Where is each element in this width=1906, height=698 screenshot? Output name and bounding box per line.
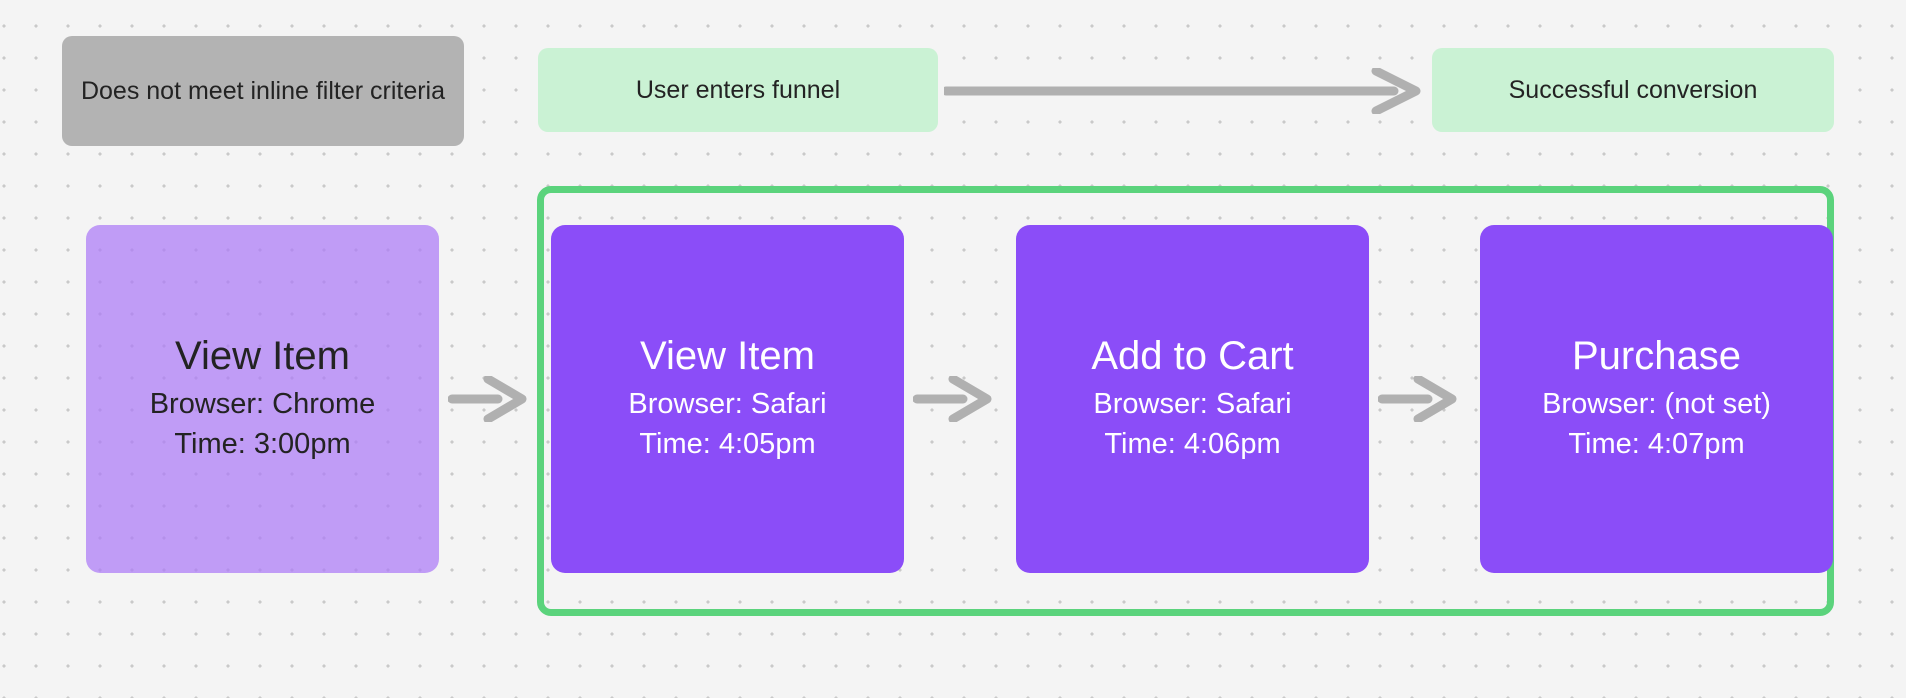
event-browser: Browser: Safari (628, 384, 826, 424)
event-time: Time: 4:06pm (1104, 424, 1280, 464)
event-card-view-item-safari[interactable]: View Item Browser: Safari Time: 4:05pm (551, 225, 904, 573)
legend-user-enters-funnel: User enters funnel (538, 48, 938, 132)
event-card-purchase[interactable]: Purchase Browser: (not set) Time: 4:07pm (1480, 225, 1833, 573)
event-time: Time: 4:07pm (1568, 424, 1744, 464)
event-title: Add to Cart (1091, 334, 1293, 379)
legend-success-label: Successful conversion (1509, 74, 1758, 106)
step-arrow-icon (1378, 376, 1460, 422)
legend-enters-label: User enters funnel (636, 74, 840, 106)
event-time: Time: 3:00pm (174, 424, 350, 464)
event-browser: Browser: Safari (1093, 384, 1291, 424)
event-title: View Item (640, 334, 815, 379)
event-card-add-to-cart[interactable]: Add to Cart Browser: Safari Time: 4:06pm (1016, 225, 1369, 573)
event-card-view-item-chrome[interactable]: View Item Browser: Chrome Time: 3:00pm (86, 225, 439, 573)
event-title: View Item (175, 334, 350, 379)
legend-excluded-criteria: Does not meet inline filter criteria (62, 36, 464, 146)
legend-successful-conversion: Successful conversion (1432, 48, 1834, 132)
event-time: Time: 4:05pm (639, 424, 815, 464)
diagram-canvas: Does not meet inline filter criteria Use… (0, 0, 1906, 698)
event-browser: Browser: (not set) (1542, 384, 1771, 424)
step-arrow-icon (448, 376, 530, 422)
legend-flow-arrow-icon (944, 68, 1428, 114)
step-arrow-icon (913, 376, 995, 422)
event-browser: Browser: Chrome (150, 384, 376, 424)
event-title: Purchase (1572, 334, 1741, 379)
legend-excluded-label: Does not meet inline filter criteria (81, 75, 445, 107)
